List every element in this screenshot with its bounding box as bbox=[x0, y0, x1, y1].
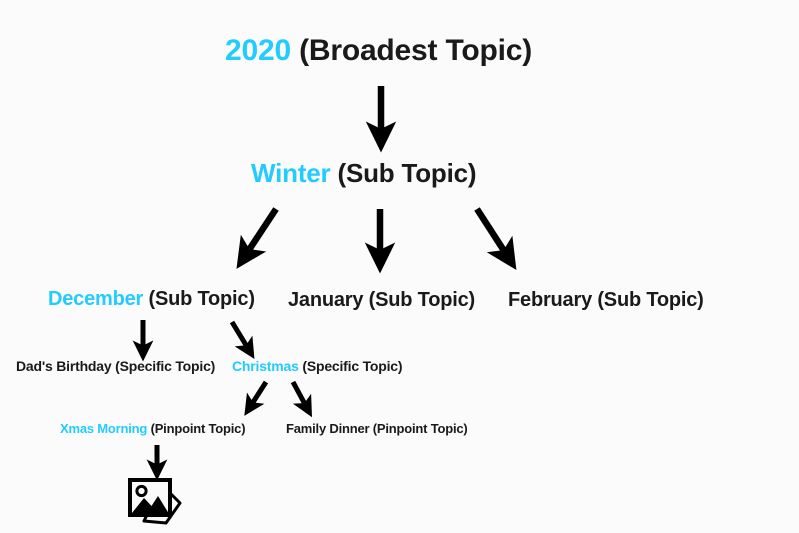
node-december-highlight: December bbox=[48, 288, 143, 310]
node-2020[interactable]: 2020 (Broadest Topic) bbox=[225, 36, 532, 66]
node-dads-birthday[interactable]: Dad's Birthday (Specific Topic) bbox=[16, 359, 215, 373]
node-xmas-morning-label: (Pinpoint Topic) bbox=[147, 421, 245, 436]
edge-december-to-christmas bbox=[232, 322, 249, 350]
node-february-label: February (Sub Topic) bbox=[508, 289, 704, 311]
node-january-label: January (Sub Topic) bbox=[288, 289, 475, 311]
node-xmas-morning-highlight: Xmas Morning bbox=[60, 421, 147, 436]
node-winter-label: (Sub Topic) bbox=[330, 158, 476, 188]
node-february[interactable]: February (Sub Topic) bbox=[508, 290, 704, 310]
node-january[interactable]: January (Sub Topic) bbox=[288, 290, 475, 310]
node-dads-birthday-label: Dad's Birthday (Specific Topic) bbox=[16, 358, 215, 374]
node-2020-highlight: 2020 bbox=[225, 34, 291, 67]
node-family-dinner[interactable]: Family Dinner (Pinpoint Topic) bbox=[286, 422, 468, 435]
edge-christmas-to-family-dinner bbox=[293, 382, 307, 408]
node-christmas-label: (Specific Topic) bbox=[299, 358, 403, 374]
arrow-layer bbox=[0, 0, 799, 533]
node-family-dinner-label: Family Dinner (Pinpoint Topic) bbox=[286, 421, 468, 436]
node-christmas-highlight: Christmas bbox=[232, 358, 299, 374]
edge-winter-to-december bbox=[245, 209, 276, 256]
diagram-canvas: 2020 (Broadest Topic) Winter (Sub Topic)… bbox=[0, 0, 799, 533]
node-winter[interactable]: Winter (Sub Topic) bbox=[251, 160, 476, 186]
node-2020-label: (Broadest Topic) bbox=[291, 34, 532, 67]
edge-winter-to-february bbox=[477, 209, 508, 257]
edge-christmas-to-xmas-morning bbox=[250, 382, 266, 407]
photos-icon[interactable] bbox=[126, 476, 188, 528]
node-christmas[interactable]: Christmas (Specific Topic) bbox=[232, 359, 402, 373]
node-december-label: (Sub Topic) bbox=[143, 288, 255, 310]
node-winter-highlight: Winter bbox=[251, 158, 330, 188]
node-xmas-morning[interactable]: Xmas Morning (Pinpoint Topic) bbox=[60, 422, 245, 435]
node-december[interactable]: December (Sub Topic) bbox=[48, 289, 255, 309]
